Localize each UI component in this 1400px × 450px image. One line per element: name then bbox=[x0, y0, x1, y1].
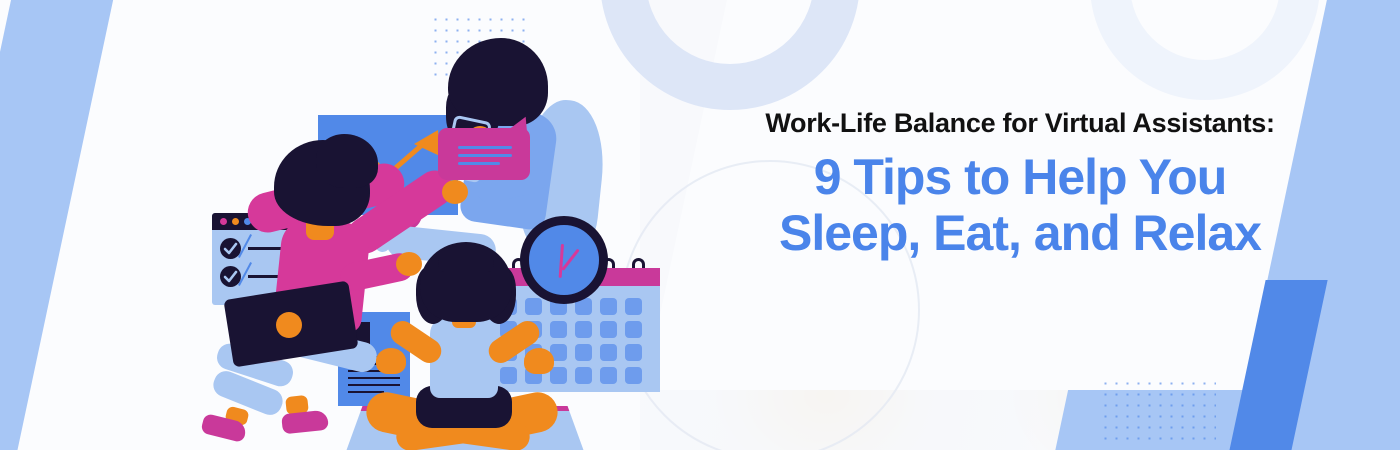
bubble-text-line bbox=[458, 154, 512, 157]
calendar-cell bbox=[575, 344, 592, 361]
calendar-cell bbox=[500, 367, 517, 384]
calendar-cell bbox=[600, 298, 617, 315]
hero-illustration bbox=[190, 30, 670, 450]
bubble-text-line bbox=[458, 162, 500, 165]
document-text-line bbox=[348, 377, 400, 379]
calendar-cell bbox=[625, 321, 642, 338]
clock-icon bbox=[520, 216, 608, 304]
calendar-cell bbox=[550, 321, 567, 338]
promo-banner: Work-Life Balance for Virtual Assistants… bbox=[0, 0, 1400, 450]
calendar-cell bbox=[600, 321, 617, 338]
calendar-cell bbox=[600, 344, 617, 361]
window-dot-orange-icon bbox=[232, 218, 239, 225]
headline-line-1: 9 Tips to Help You bbox=[690, 149, 1350, 205]
window-dot-pink-icon bbox=[220, 218, 227, 225]
calendar-cell bbox=[575, 367, 592, 384]
woman-laptop-shoe bbox=[281, 410, 329, 435]
checkmark-circle-icon bbox=[220, 238, 241, 259]
dot-grid-icon bbox=[1100, 378, 1216, 440]
woman-laptop-hand bbox=[396, 252, 422, 276]
woman-meditating-hand bbox=[376, 348, 406, 374]
headline-kicker: Work-Life Balance for Virtual Assistants… bbox=[690, 108, 1350, 139]
calendar-cell bbox=[550, 367, 567, 384]
woman-meditating-bangs bbox=[438, 246, 494, 272]
headline-line-2: Sleep, Eat, and Relax bbox=[690, 205, 1350, 261]
calendar-cell bbox=[625, 344, 642, 361]
woman-phone-hand bbox=[442, 180, 468, 204]
document-text-line bbox=[348, 384, 400, 386]
page-title: 9 Tips to Help You Sleep, Eat, and Relax bbox=[690, 149, 1350, 261]
calendar-cell bbox=[575, 321, 592, 338]
calendar-cell bbox=[625, 367, 642, 384]
calendar-cell bbox=[525, 298, 542, 315]
laptop-logo-icon bbox=[276, 312, 302, 338]
calendar-cell bbox=[625, 298, 642, 315]
checkmark-circle-icon bbox=[220, 266, 241, 287]
woman-meditating-hand bbox=[524, 348, 554, 374]
woman-phone-hair bbox=[448, 38, 548, 126]
woman-meditating-torso bbox=[430, 316, 498, 398]
headline-block: Work-Life Balance for Virtual Assistants… bbox=[690, 108, 1350, 261]
calendar-cell bbox=[600, 367, 617, 384]
bubble-text-line bbox=[458, 146, 512, 149]
